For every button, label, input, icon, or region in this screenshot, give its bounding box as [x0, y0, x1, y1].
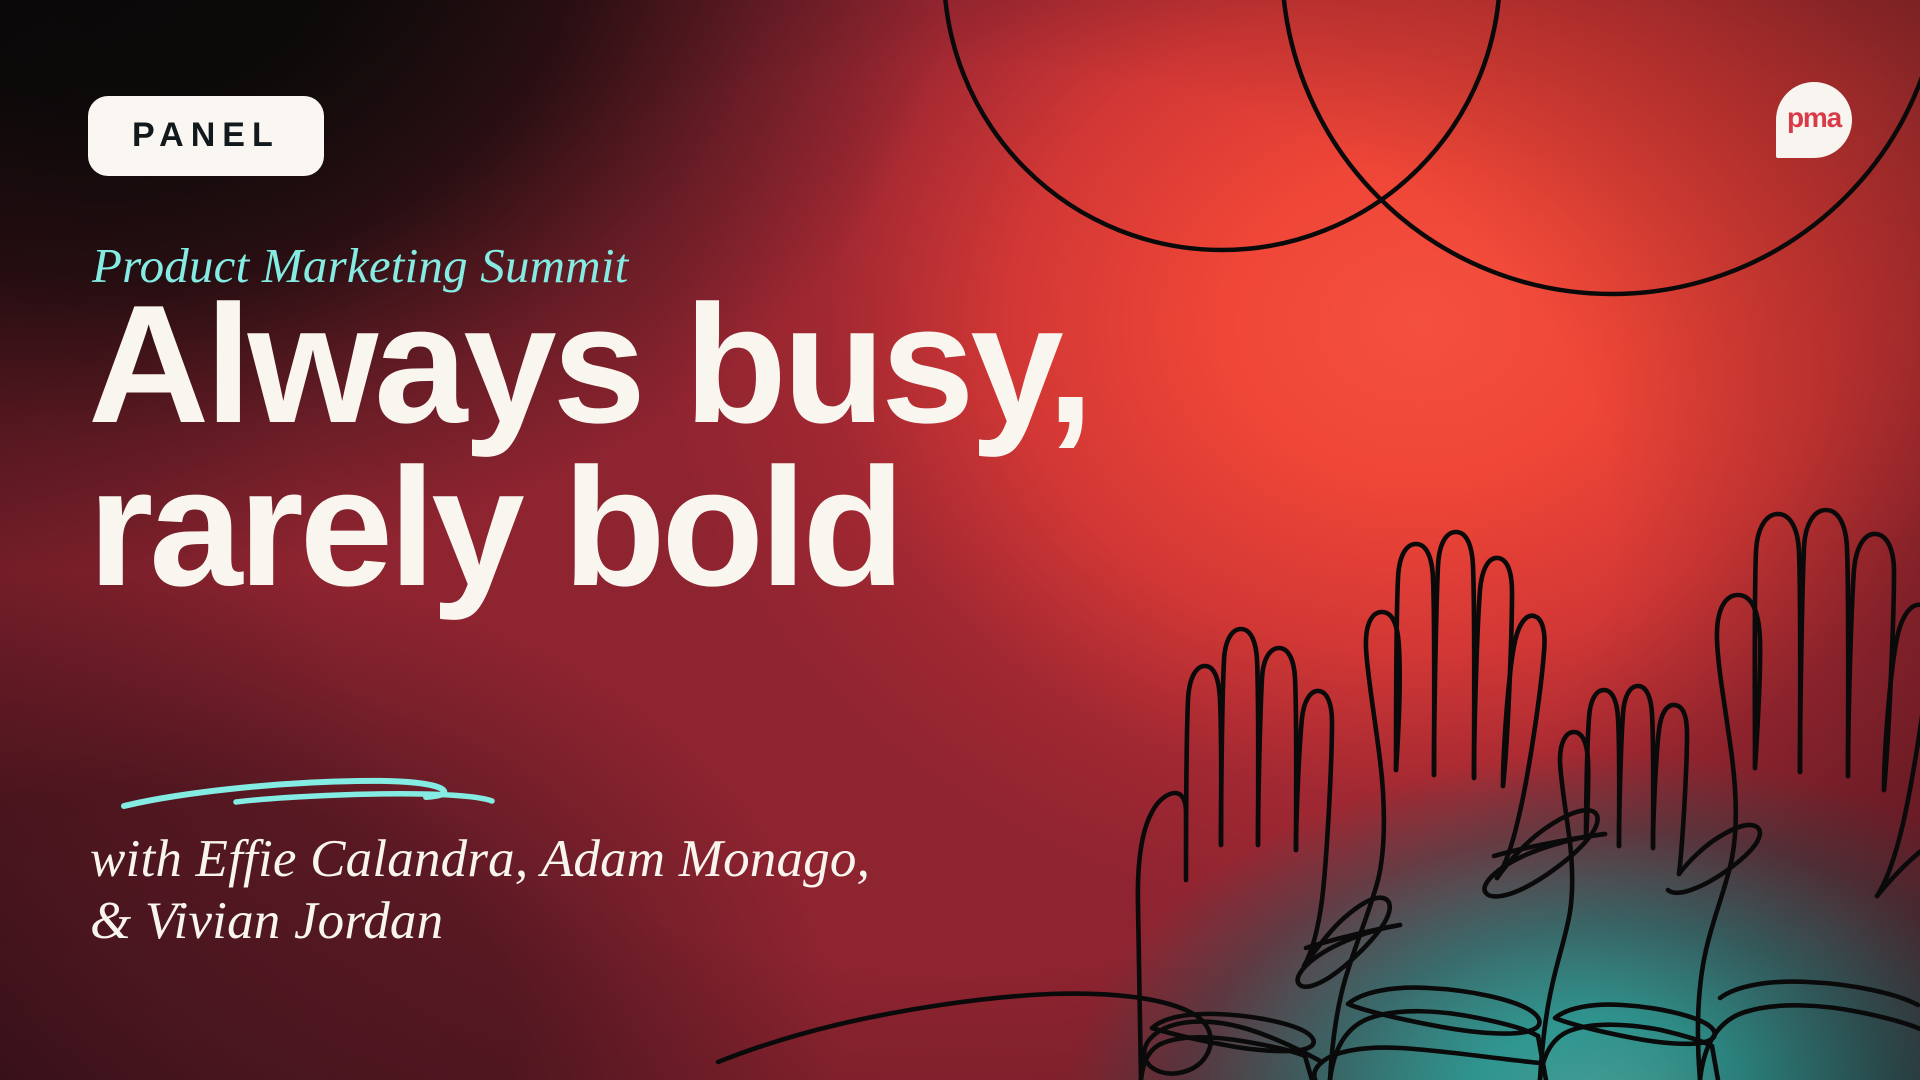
pma-logo: pma — [1776, 82, 1852, 158]
promo-banner: PANEL Product Marketing Summit Always bu… — [0, 0, 1920, 1080]
cyan-swoosh-icon — [112, 766, 532, 822]
speaker-list: with Effie Calandra, Adam Monago, & Vivi… — [90, 828, 870, 952]
headline-line-2: rarely bold — [88, 446, 1090, 609]
speaker-line-2: & Vivian Jordan — [90, 890, 870, 952]
pma-logo-text: pma — [1776, 82, 1852, 158]
speaker-line-1: with Effie Calandra, Adam Monago, — [90, 828, 870, 890]
page-title: Always busy, rarely bold — [88, 283, 1090, 609]
headline-line-1: Always busy, — [88, 283, 1090, 446]
panel-badge: PANEL — [88, 96, 324, 176]
content-block: PANEL Product Marketing Summit Always bu… — [104, 0, 1284, 1080]
